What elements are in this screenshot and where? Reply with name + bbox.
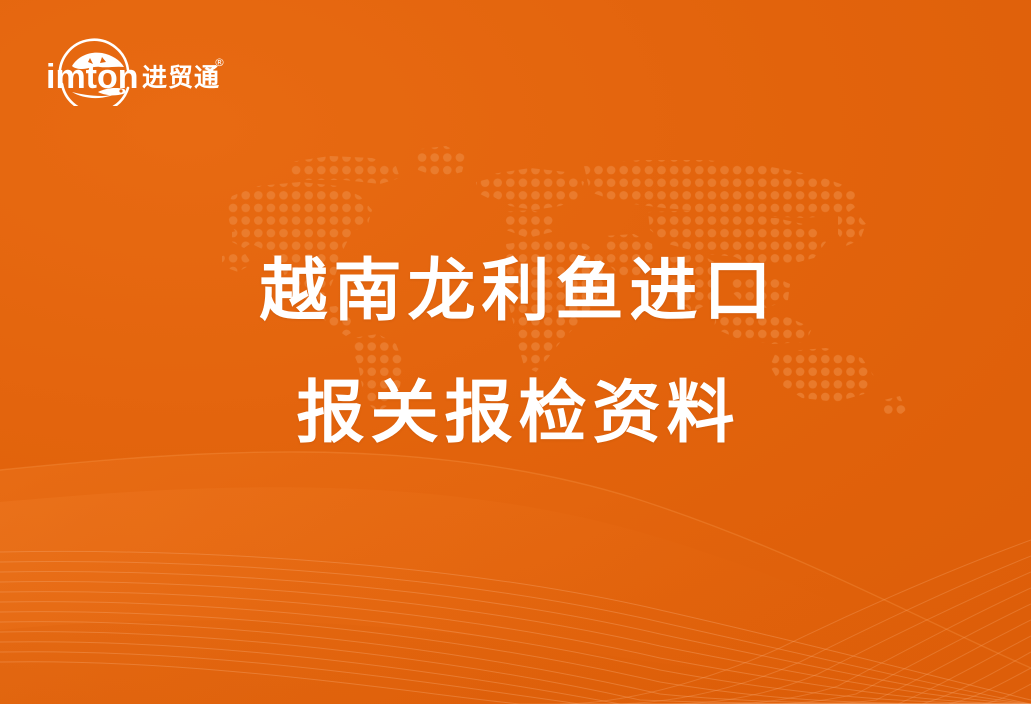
brand-logo: imton 进贸通 ®: [38, 26, 228, 106]
logo-wordmark: imton: [46, 58, 139, 96]
logo-chinese-name: 进贸通: [142, 63, 220, 92]
promo-banner: imton 进贸通 ® 越南龙利鱼进口 报关报检资料: [0, 0, 1031, 704]
logo-trademark-symbol: ®: [214, 56, 225, 69]
globe-icon: imton 进贸通 ®: [38, 26, 228, 106]
